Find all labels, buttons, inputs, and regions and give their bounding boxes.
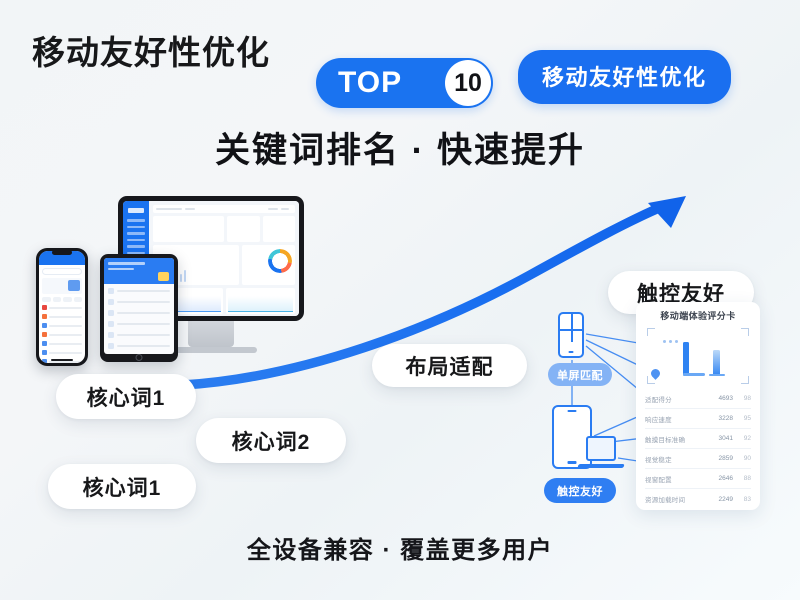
header-pill-badge: 移动友好性优化 — [518, 50, 731, 104]
row-value-1: 3041 — [707, 435, 733, 442]
tablet-device-icon — [100, 254, 178, 362]
layout-adaptation-label[interactable]: 布局适配 — [372, 344, 527, 387]
screen-match-tag: 单屏匹配 — [548, 363, 612, 386]
touch-friendly-tag: 触控友好 — [544, 478, 616, 503]
device-network-diagram: 单屏匹配 触控友好 — [540, 310, 650, 510]
keyword-pill-3[interactable]: 核心词1 — [48, 464, 196, 509]
footer-tagline: 全设备兼容 · 覆盖更多用户 — [0, 530, 800, 565]
row-value-2: 92 — [733, 435, 751, 442]
top-badge-word: TOP — [338, 66, 402, 100]
scorecard-title: 移动端体验评分卡 — [645, 309, 751, 322]
row-value-2: 88 — [733, 475, 751, 482]
table-row: 触摸目标准确 3041 92 — [645, 429, 751, 449]
row-name: 资源加载时间 — [645, 494, 707, 504]
keyword-pill-1[interactable]: 核心词1 — [56, 374, 196, 419]
row-value-2: 98 — [733, 395, 751, 402]
table-row: 适配得分 4693 98 — [645, 389, 751, 409]
top-rank-badge: TOP 10 — [316, 58, 493, 108]
table-row: 视觉稳定 2859 90 — [645, 449, 751, 469]
mobile-experience-scorecard: 移动端体验评分卡 适配得分 4693 98 响应速度 3228 95 — [636, 302, 760, 510]
poster-canvas: 移动友好性优化 TOP 10 移动友好性优化 关键词排名 · 快速提升 — [0, 0, 800, 600]
small-phone-icon — [558, 312, 584, 358]
row-name: 触摸目标准确 — [645, 434, 707, 444]
row-name: 适配得分 — [645, 394, 707, 404]
table-row: 响应速度 3228 95 — [645, 409, 751, 429]
page-title: 移动友好性优化 — [32, 26, 270, 74]
row-name: 响应速度 — [645, 414, 707, 424]
row-value-1: 2859 — [707, 455, 733, 462]
table-row: 资源加载时间 2249 83 — [645, 489, 751, 509]
row-value-2: 95 — [733, 415, 751, 422]
row-value-1: 2646 — [707, 475, 733, 482]
row-value-1: 3228 — [707, 415, 733, 422]
scorecard-row-list: 适配得分 4693 98 响应速度 3228 95 触摸目标准确 3041 92… — [645, 389, 751, 509]
row-value-1: 2249 — [707, 496, 733, 503]
row-name: 视窗配置 — [645, 474, 707, 484]
scorecard-chart — [647, 328, 749, 384]
row-value-1: 4693 — [707, 395, 733, 402]
keyword-pill-2[interactable]: 核心词2 — [196, 418, 346, 463]
device-mockup-group — [28, 196, 328, 386]
page-subtitle: 关键词排名 · 快速提升 — [0, 122, 800, 173]
donut-chart-icon — [268, 249, 292, 273]
top-badge-number: 10 — [445, 60, 491, 106]
row-value-2: 90 — [733, 455, 751, 462]
table-row: 视窗配置 2646 88 — [645, 469, 751, 489]
laptop-icon — [582, 436, 620, 470]
row-name: 视觉稳定 — [645, 454, 707, 464]
mobile-phone-icon — [36, 248, 88, 366]
row-value-2: 83 — [733, 496, 751, 503]
